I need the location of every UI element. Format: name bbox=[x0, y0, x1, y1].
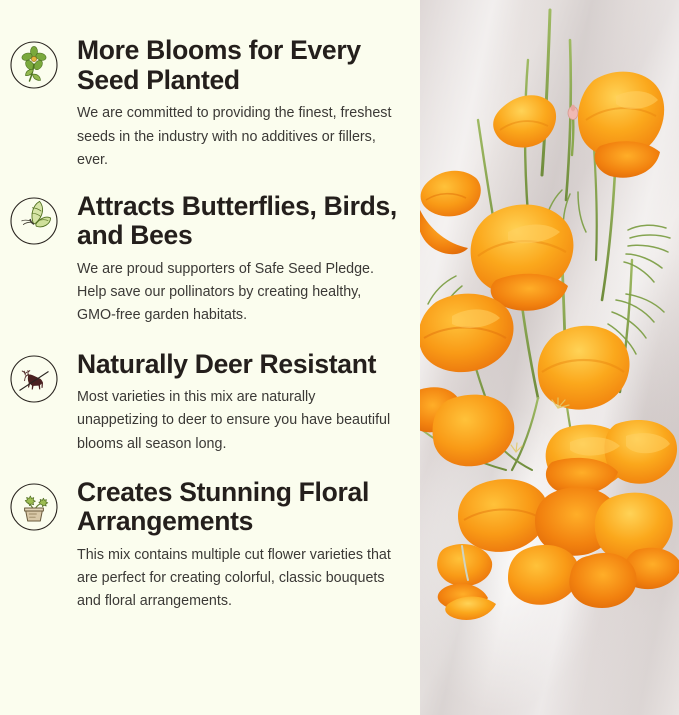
poppy-bouquet-photo bbox=[420, 0, 679, 715]
benefit-description: We are committed to providing the finest… bbox=[77, 102, 398, 171]
benefit-description: This mix contains multiple cut flower va… bbox=[77, 544, 398, 613]
product-feature-panel: More Blooms for Every Seed Planted We ar… bbox=[0, 0, 679, 715]
benefit-title: Naturally Deer Resistant bbox=[77, 350, 398, 380]
poppy-flowers bbox=[420, 0, 679, 715]
butterfly-icon bbox=[6, 192, 62, 248]
benefit-title: Attracts Butterflies, Birds, and Bees bbox=[77, 192, 398, 251]
benefit-text: More Blooms for Every Seed Planted We ar… bbox=[62, 36, 398, 172]
benefit-text: Creates Stunning Floral Arrangements Thi… bbox=[62, 478, 398, 614]
benefits-list: More Blooms for Every Seed Planted We ar… bbox=[0, 0, 420, 715]
flower-sprout-icon bbox=[6, 36, 62, 92]
benefit-title: More Blooms for Every Seed Planted bbox=[77, 36, 398, 95]
benefit-item: Creates Stunning Floral Arrangements Thi… bbox=[6, 478, 398, 614]
benefit-description: We are proud supporters of Safe Seed Ple… bbox=[77, 258, 398, 327]
no-deer-icon bbox=[6, 350, 62, 406]
benefit-text: Attracts Butterflies, Birds, and Bees We… bbox=[62, 192, 398, 328]
potted-plant-icon bbox=[6, 478, 62, 534]
benefit-description: Most varieties in this mix are naturally… bbox=[77, 386, 398, 455]
benefit-text: Naturally Deer Resistant Most varieties … bbox=[62, 350, 398, 456]
benefit-title: Creates Stunning Floral Arrangements bbox=[77, 478, 398, 537]
benefit-item: Attracts Butterflies, Birds, and Bees We… bbox=[6, 192, 398, 328]
benefit-item: Naturally Deer Resistant Most varieties … bbox=[6, 350, 398, 456]
benefit-item: More Blooms for Every Seed Planted We ar… bbox=[6, 36, 398, 172]
